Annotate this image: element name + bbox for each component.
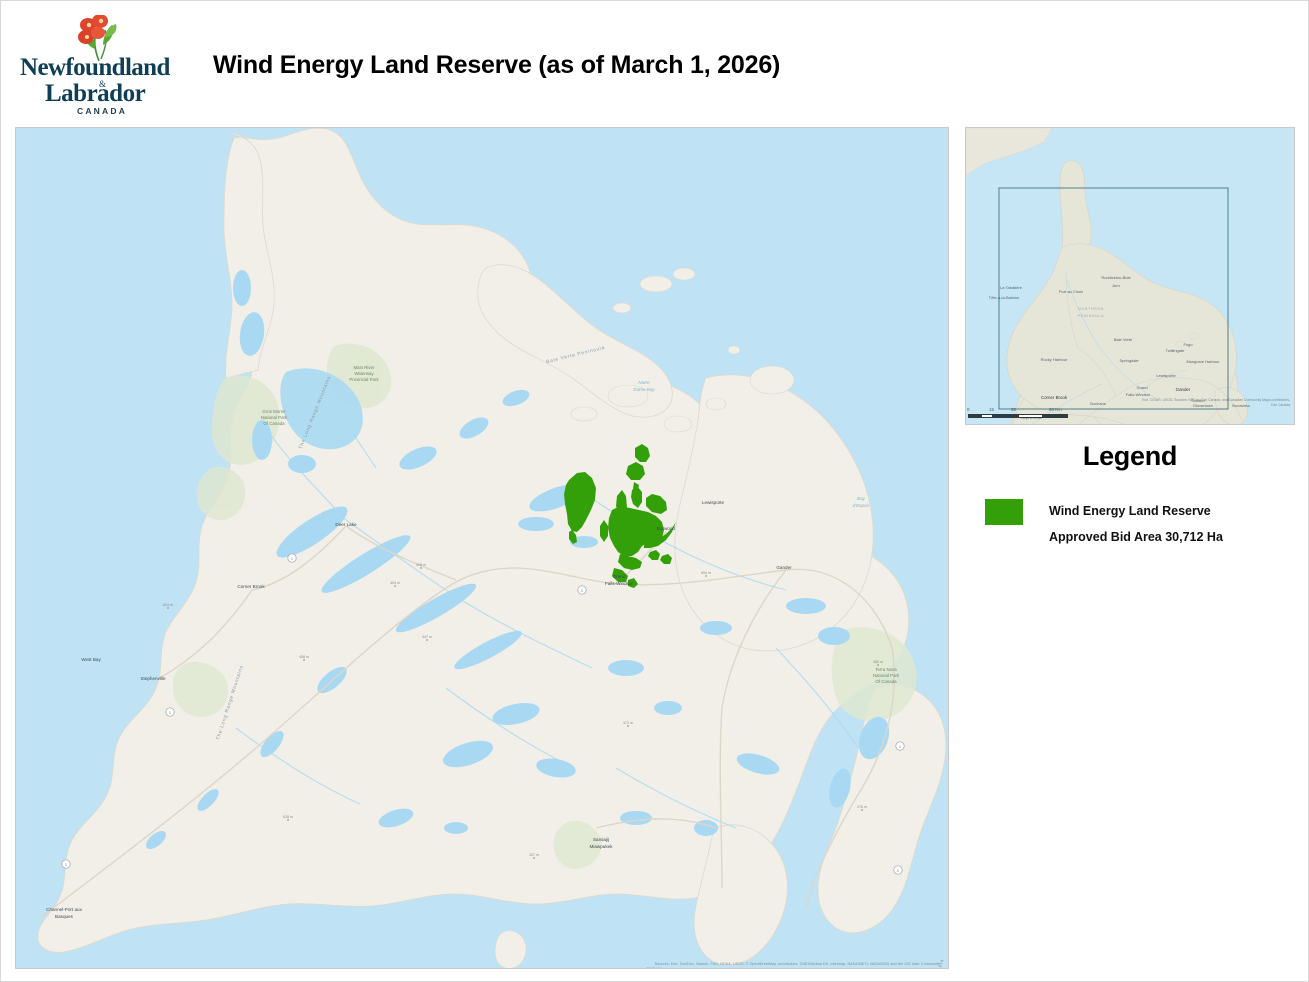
inset-label-place-9: Twillingate	[1166, 348, 1185, 353]
map-label-peak-10: 327 m	[529, 853, 539, 857]
svg-text:CANADA: CANADA	[77, 106, 127, 116]
inset-map-attribution: Esri, CGIAR, USGS, Sources: NRCan, Esri …	[1040, 398, 1290, 408]
map-label-water-0: Notre	[638, 380, 650, 385]
map-label-city-12: Samiajij	[593, 837, 609, 842]
inset-label-place-4: Arm	[1112, 283, 1120, 288]
map-label-city-13: Miawpukek	[590, 844, 614, 849]
page-title: Wind Energy Land Reserve (as of March 1,…	[213, 51, 780, 80]
scale-tick-0: 0	[967, 407, 969, 412]
scale-tick-15: 15	[989, 407, 994, 412]
map-label-city-8: Botwood	[657, 526, 675, 531]
map-label-park-7: National Park	[873, 673, 900, 678]
inset-label-place-2: Port au Choix	[1059, 289, 1083, 294]
map-label-peak-1: 404 m	[390, 581, 400, 585]
map-label-park-3: Main River	[354, 365, 376, 370]
map-label-peak-5: 814 m	[163, 603, 173, 607]
inset-map-graphic: La TabatièreTête-à-la-BaleinePort au Cho…	[966, 128, 1294, 424]
page-header: Newfoundland & Labrador CANADA Wind Ener…	[1, 1, 1308, 123]
svg-text:Labrador: Labrador	[45, 80, 146, 107]
map-label-city-4: Channel-Port aux	[46, 907, 82, 912]
inset-label-place-12: Grand	[1136, 385, 1147, 390]
map-label-city-2: Stephenville	[140, 676, 165, 681]
svg-text:1: 1	[581, 589, 583, 593]
map-label-city-5: Basques	[55, 914, 74, 919]
inset-label-place-6: Rocky Harbour	[1041, 357, 1068, 362]
map-label-park-0: Gros Morne	[262, 409, 286, 414]
inset-label-place-1: Tête-à-la-Baleine	[989, 295, 1020, 300]
inset-label-place-3: Roddickton-Bide	[1101, 275, 1131, 280]
main-map-graphic: 1 1 1 1 1 1 Deer LakeCorner BrookStephen…	[16, 128, 948, 968]
map-label-park-4: Waterway	[354, 371, 374, 376]
main-map-canvas[interactable]: 1 1 1 1 1 1 Deer LakeCorner BrookStephen…	[15, 127, 949, 969]
legend-title: Legend	[965, 441, 1295, 472]
map-label-peak-8: 276 m	[857, 805, 867, 809]
legend-panel: Legend Wind Energy Land Reserve Approved…	[965, 441, 1295, 551]
map-label-peak-4: 447 m	[422, 635, 432, 639]
map-label-city-0: Deer Lake	[335, 522, 357, 527]
map-label-city-6: Grand	[613, 574, 626, 579]
svg-text:1: 1	[65, 863, 67, 867]
map-label-peak-3: 458 m	[299, 655, 309, 659]
svg-text:Newfoundland: Newfoundland	[20, 54, 170, 81]
legend-item-wind-energy-land-reserve: Wind Energy Land Reserve Approved Bid Ar…	[965, 498, 1295, 551]
map-page: Newfoundland & Labrador CANADA Wind Ener…	[0, 0, 1309, 982]
map-label-park-1: National Park	[261, 415, 288, 420]
newfoundland-labrador-logo: Newfoundland & Labrador CANADA	[15, 15, 193, 119]
map-label-peak-2: 694 m	[701, 571, 711, 575]
map-label-peak-6: 628 m	[283, 815, 293, 819]
map-label-park-2: Of Canada	[263, 421, 285, 426]
svg-text:1: 1	[899, 745, 901, 749]
legend-label-line-2: Approved Bid Area 30,712 Ha	[1049, 524, 1223, 550]
inset-label-place-7: Springdale	[1119, 358, 1139, 363]
map-label-peak-0: 408 m	[416, 563, 426, 567]
legend-label-line-1: Wind Energy Land Reserve	[1049, 498, 1223, 524]
map-label-park-5: Provincial Park	[349, 377, 379, 382]
map-label-water-7: d'Espoir	[853, 503, 870, 508]
inset-label-place-13: Falls-Windsor	[1126, 392, 1151, 397]
inset-scale-bar: 0 15 30 60 Km	[967, 407, 1077, 422]
map-label-water-6: Bay	[857, 496, 866, 501]
inset-label-place-10: Musgrave Harbour	[1186, 359, 1220, 364]
legend-swatch-green	[985, 499, 1023, 525]
inset-label-region-1: PENINSULA	[1078, 314, 1105, 318]
main-map-attribution: Sources: Esri, TomTom, Garmin, FAO, NOAA…	[655, 962, 940, 966]
inset-label-place-5: Baie Verte	[1114, 337, 1133, 342]
inset-label-region-0: NORTHERN	[1078, 307, 1104, 311]
svg-text:1: 1	[169, 711, 171, 715]
map-label-water-1: Dame Bay	[633, 387, 655, 392]
svg-text:1: 1	[897, 869, 899, 873]
map-label-peak-9: 372 m	[623, 721, 633, 725]
inset-attribution-line-2: Esri Canada	[1040, 403, 1290, 408]
inset-label-place-21: St. George's	[1023, 423, 1045, 424]
map-label-peak-7: 385 m	[873, 660, 883, 664]
map-label-city-3: West Bay	[81, 657, 101, 662]
map-label-park-6: Terra Nova	[875, 667, 897, 672]
scale-tick-60: 60 Km	[1049, 407, 1062, 412]
inset-label-place-14: Gander	[1176, 387, 1191, 392]
map-label-city-7: Falls-Windsor	[605, 581, 634, 586]
inset-label-place-11: Lewisporte	[1156, 373, 1176, 378]
map-label-water-2: Fortune	[646, 966, 662, 968]
map-label-city-9: Lewisporte	[702, 500, 725, 505]
scale-bar-track	[968, 414, 1068, 418]
scale-tick-30: 30	[1011, 407, 1016, 412]
inset-overview-map[interactable]: La TabatièreTête-à-la-BaleinePort au Cho…	[965, 127, 1295, 425]
map-label-city-1: Corner Brook	[237, 584, 265, 589]
inset-label-place-0: La Tabatière	[1000, 285, 1023, 290]
map-label-park-8: Of Canada	[875, 679, 897, 684]
inset-label-place-8: Fogo	[1183, 342, 1193, 347]
svg-text:1: 1	[291, 557, 293, 561]
map-label-city-10: Gander	[776, 565, 792, 570]
